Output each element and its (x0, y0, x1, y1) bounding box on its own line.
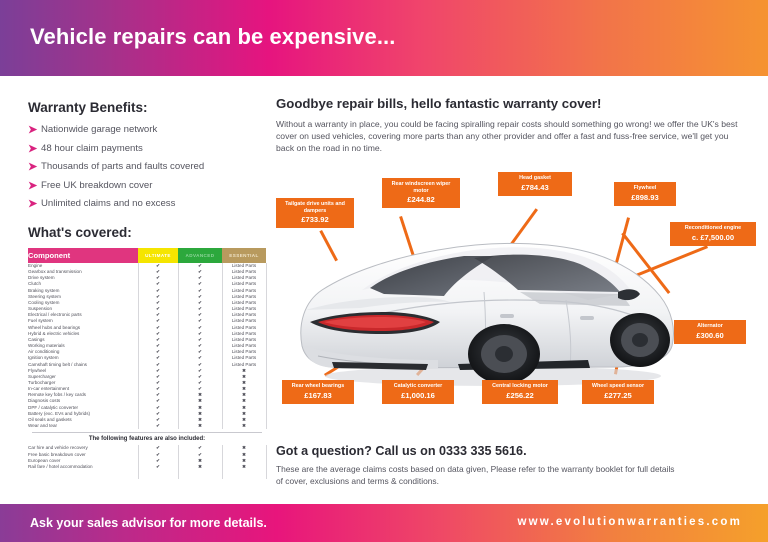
chevron-right-icon: ➤ (28, 180, 41, 192)
whats-covered-heading: What's covered: (28, 225, 266, 240)
callout-label: Wheel speed sensor (592, 383, 644, 389)
benefit-label: Free UK breakdown cover (41, 180, 152, 192)
extras-heading-row: The following features are also included… (28, 429, 266, 445)
benefit-label: Thousands of parts and faults covered (41, 161, 204, 173)
spacer-cell (178, 470, 222, 479)
benefit-item: ➤ Free UK breakdown cover (28, 180, 266, 192)
contact-block: Got a question? Call us on 0333 335 5616… (276, 444, 746, 487)
page-header: Vehicle repairs can be expensive... (0, 0, 768, 76)
callout-amount: £1,000.16 (386, 391, 450, 401)
column-header-essential: ESSENTIAL (222, 248, 266, 263)
callout-flywheel: Flywheel £898.93 (614, 182, 676, 206)
benefit-item: ➤ Thousands of parts and faults covered (28, 161, 266, 173)
benefit-label: 48 hour claim payments (41, 143, 143, 155)
spacer-cell (28, 470, 138, 479)
callout-amount: £898.93 (618, 193, 672, 203)
callout-label: Rear wheel bearings (292, 383, 344, 389)
benefit-item: ➤ Nationwide garage network (28, 124, 266, 136)
callout-amount: £733.92 (280, 215, 350, 225)
callout-rear-wiper-motor: Rear windscreen wiper motor £244.82 (382, 178, 460, 208)
callout-label: Flywheel (634, 185, 657, 191)
main-intro: Goodbye repair bills, hello fantastic wa… (276, 96, 746, 155)
contact-heading: Got a question? Call us on 0333 335 5616… (276, 444, 746, 458)
page-title: Vehicle repairs can be expensive... (30, 24, 395, 50)
callout-tailgate-drive-units: Tailgate drive units and dampers £733.92 (276, 198, 354, 228)
callout-alternator: Alternator £300.60 (674, 320, 746, 344)
benefit-item: ➤ 48 hour claim payments (28, 143, 266, 155)
disclaimer-text: These are the average claims costs based… (276, 464, 676, 487)
callout-label: Central locking motor (492, 383, 548, 389)
callout-label: Alternator (697, 323, 723, 329)
callout-amount: £244.82 (386, 195, 456, 205)
chevron-right-icon: ➤ (28, 124, 41, 136)
poster-page: Vehicle repairs can be expensive... Warr… (0, 0, 768, 542)
benefits-list: ➤ Nationwide garage network ➤ 48 hour cl… (28, 124, 266, 210)
callout-amount: £300.60 (678, 331, 742, 341)
coverage-table: Component ULTIMATE ADVANCED ESSENTIAL En… (28, 248, 267, 479)
table-footer-spacer (28, 470, 266, 479)
callout-amount: £167.83 (286, 391, 350, 401)
callout-amount: £784.43 (502, 183, 568, 193)
callout-amount: £256.22 (486, 391, 554, 401)
chevron-right-icon: ➤ (28, 143, 41, 155)
callout-label: Tailgate drive units and dampers (285, 201, 345, 214)
car-illustration (288, 218, 688, 398)
benefit-label: Unlimited claims and no excess (41, 198, 175, 210)
chevron-right-icon: ➤ (28, 198, 41, 210)
callout-label: Head gasket (519, 175, 551, 181)
column-header-component: Component (28, 248, 138, 263)
benefit-label: Nationwide garage network (41, 124, 157, 136)
sidebar: Warranty Benefits: ➤ Nationwide garage n… (28, 100, 266, 479)
callout-reconditioned-engine: Reconditioned engine c. £7,500.00 (670, 222, 756, 246)
page-footer: Ask your sales advisor for more details.… (0, 504, 768, 542)
column-header-advanced: ADVANCED (178, 248, 222, 263)
table-header-row: Component ULTIMATE ADVANCED ESSENTIAL (28, 248, 266, 263)
callout-wheel-speed-sensor: Wheel speed sensor £277.25 (582, 380, 654, 404)
callout-label: Catalytic converter (394, 383, 443, 389)
callout-catalytic-converter: Catalytic converter £1,000.16 (382, 380, 454, 404)
callout-amount: c. £7,500.00 (674, 233, 752, 243)
coverage-table-body: Engine✔✔Listed PartsGearbox and transmis… (28, 263, 266, 479)
chevron-right-icon: ➤ (28, 161, 41, 173)
footer-website[interactable]: www.evolutionwarranties.com (518, 516, 742, 528)
footer-cta-text: Ask your sales advisor for more details. (30, 516, 267, 530)
callout-label: Rear windscreen wiper motor (392, 181, 451, 194)
main-body-text: Without a warranty in place, you could b… (276, 118, 742, 155)
callout-label: Reconditioned engine (685, 225, 741, 231)
column-header-ultimate: ULTIMATE (138, 248, 178, 263)
spacer-cell (138, 470, 178, 479)
callout-central-locking-motor: Central locking motor £256.22 (482, 380, 558, 404)
car-diagram: Tailgate drive units and dampers £733.92… (276, 168, 762, 430)
divider (32, 432, 262, 433)
warranty-benefits-heading: Warranty Benefits: (28, 100, 266, 115)
callout-rear-wheel-bearings: Rear wheel bearings £167.83 (282, 380, 354, 404)
main-headline: Goodbye repair bills, hello fantastic wa… (276, 96, 746, 111)
callout-amount: £277.25 (586, 391, 650, 401)
spacer-cell (222, 470, 266, 479)
extras-heading-cell: The following features are also included… (28, 429, 266, 445)
callout-head-gasket: Head gasket £784.43 (498, 172, 572, 196)
extras-title: The following features are also included… (28, 435, 266, 445)
benefit-item: ➤ Unlimited claims and no excess (28, 198, 266, 210)
